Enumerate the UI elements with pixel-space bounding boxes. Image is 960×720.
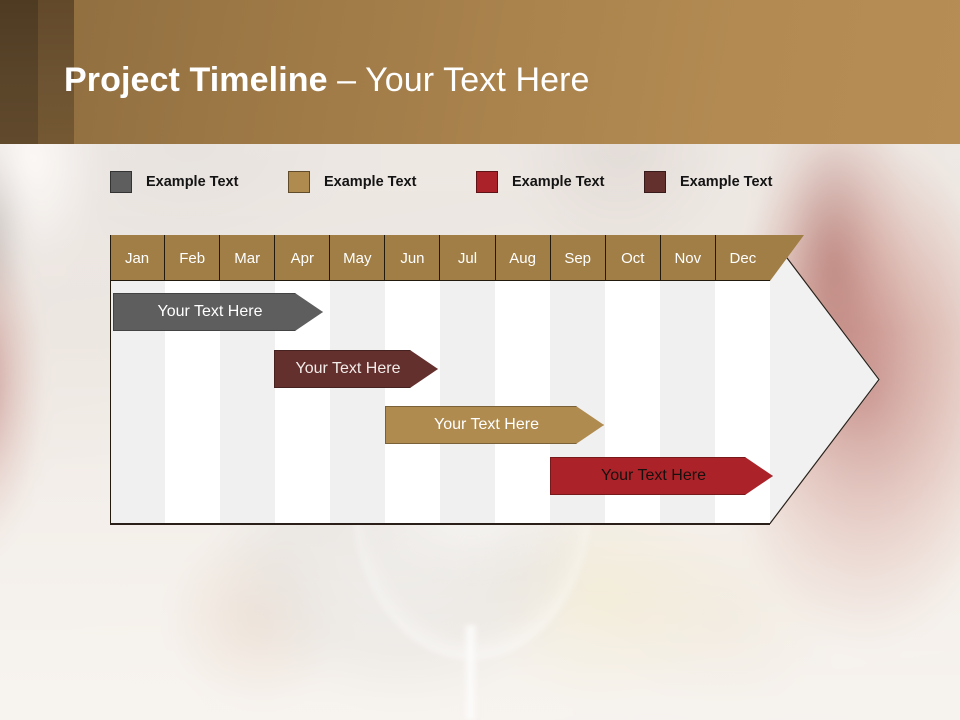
page-title-rest: – Your Text Here — [328, 61, 590, 99]
month-header-underline — [110, 280, 770, 281]
timeline-bar-1-label: Your Text Here — [158, 303, 279, 321]
timeline-footer-edge — [110, 523, 770, 525]
timeline-bar-3-label: Your Text Here — [434, 416, 555, 434]
legend-item-2[interactable]: Example Text — [288, 170, 416, 194]
legend-label-3: Example Text — [512, 174, 604, 190]
timeline-column-jun — [385, 281, 440, 524]
timeline-column-may — [330, 281, 385, 524]
timeline-bar-4[interactable]: Your Text Here — [550, 457, 773, 495]
month-cell-nov[interactable]: Nov — [661, 235, 716, 281]
month-cell-aug[interactable]: Aug — [496, 235, 551, 281]
month-header-chevron-wedge — [770, 235, 880, 281]
legend-label-1: Example Text — [146, 174, 238, 190]
timeline-bar-1[interactable]: Your Text Here — [113, 293, 323, 331]
month-cell-may[interactable]: May — [330, 235, 385, 281]
timeline-bar-2-label: Your Text Here — [296, 360, 417, 378]
month-cell-apr[interactable]: Apr — [275, 235, 330, 281]
month-cell-jun[interactable]: Jun — [385, 235, 440, 281]
timeline-bar-3[interactable]: Your Text Here — [385, 406, 604, 444]
legend-item-3[interactable]: Example Text — [476, 170, 604, 194]
legend-swatch-red-icon — [476, 171, 498, 193]
title-accent-band-dark — [0, 0, 38, 144]
month-cell-mar[interactable]: Mar — [220, 235, 275, 281]
legend-label-4: Example Text — [680, 174, 772, 190]
slide-canvas: Project Timeline – Your Text Here Exampl… — [0, 0, 960, 720]
month-cell-jul[interactable]: Jul — [440, 235, 495, 281]
legend-item-4[interactable]: Example Text — [644, 170, 772, 194]
month-header-row: Jan Feb Mar Apr May Jun Jul Aug Sep Oct … — [110, 235, 770, 281]
page-title-strong: Project Timeline — [64, 61, 328, 99]
timeline-column-jul — [440, 281, 495, 524]
month-cell-sep[interactable]: Sep — [551, 235, 606, 281]
month-cell-feb[interactable]: Feb — [165, 235, 220, 281]
legend-item-1[interactable]: Example Text — [110, 170, 238, 194]
timeline-bar-2[interactable]: Your Text Here — [274, 350, 438, 388]
timeline-chart: Jan Feb Mar Apr May Jun Jul Aug Sep Oct … — [110, 235, 880, 525]
month-cell-oct[interactable]: Oct — [606, 235, 661, 281]
legend: Example Text Example Text Example Text E… — [110, 170, 830, 194]
legend-swatch-gray-icon — [110, 171, 132, 193]
timeline-bar-4-label: Your Text Here — [601, 467, 722, 485]
page-title: Project Timeline – Your Text Here — [64, 58, 590, 102]
legend-swatch-tan-icon — [288, 171, 310, 193]
legend-label-2: Example Text — [324, 174, 416, 190]
title-bar: Project Timeline – Your Text Here — [0, 0, 960, 144]
legend-swatch-darkred-icon — [644, 171, 666, 193]
month-cell-jan[interactable]: Jan — [110, 235, 165, 281]
month-cell-dec[interactable]: Dec — [716, 235, 770, 281]
timeline-left-border — [110, 235, 111, 524]
timeline-column-aug — [495, 281, 550, 524]
